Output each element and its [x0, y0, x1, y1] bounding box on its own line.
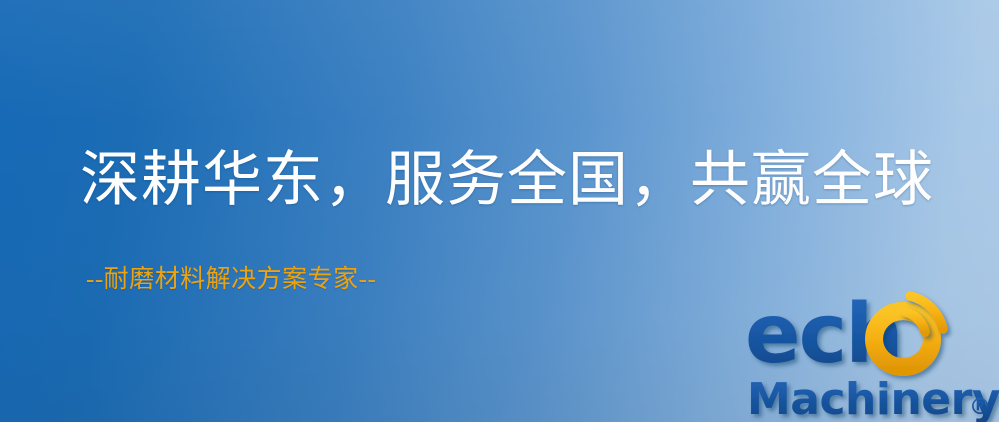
banner-headline: 深耕华东，服务全国，共赢全球: [80, 150, 934, 210]
banner-subtitle: --耐磨材料解决方案专家--: [86, 266, 376, 294]
logo-svg: ech Machinery ®: [745, 296, 995, 422]
logo-tagline: Machinery: [747, 374, 999, 422]
hero-banner: 深耕华东，服务全国，共赢全球 --耐磨材料解决方案专家--: [0, 0, 999, 422]
echo-machinery-logo: ech Machinery ®: [745, 296, 995, 422]
logo-registered-mark: ®: [969, 395, 991, 420]
logo-tagline-group: Machinery ®: [747, 374, 999, 422]
